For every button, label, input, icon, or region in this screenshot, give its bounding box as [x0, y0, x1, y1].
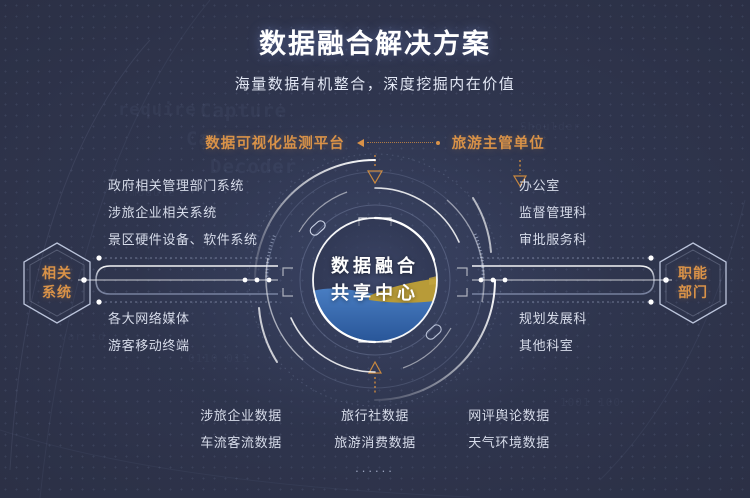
- list-item[interactable]: 审批服务科: [519, 226, 587, 253]
- left-top-system-list: 政府相关管理部门系统 涉旅企业相关系统 景区硬件设备、软件系统: [108, 172, 258, 253]
- list-item[interactable]: 景区硬件设备、软件系统: [108, 226, 258, 253]
- hexagon-right-label: 职能 部门: [678, 264, 708, 302]
- list-item[interactable]: 车流客流数据: [182, 429, 300, 456]
- bottom-ellipsis: ......: [0, 460, 750, 475]
- hexagon-right-line2: 部门: [678, 283, 708, 302]
- list-item[interactable]: 其他科室: [519, 332, 587, 359]
- data-fusion-hub: [243, 148, 507, 412]
- list-item[interactable]: 网评舆论数据: [450, 402, 568, 429]
- arrow-head-icon: [357, 139, 364, 147]
- right-bottom-department-list: 规划发展科 其他科室: [519, 305, 587, 359]
- list-item[interactable]: 各大网络媒体: [108, 305, 190, 332]
- list-item[interactable]: 监督管理科: [519, 199, 587, 226]
- label-tourism-authority[interactable]: 旅游主管单位: [452, 132, 545, 153]
- list-item[interactable]: 涉旅企业相关系统: [108, 199, 258, 226]
- right-top-department-list: 办公室 监督管理科 审批服务科: [519, 172, 587, 253]
- arrow-dot-icon: [436, 141, 440, 145]
- bottom-data-grid: 涉旅企业数据 旅行社数据 网评舆论数据 车流客流数据 旅游消费数据 天气环境数据: [182, 402, 568, 456]
- arrow-dash-line: [367, 142, 433, 143]
- top-label-row: 数据可视化监测平台 旅游主管单位: [0, 132, 750, 153]
- hexagon-left-line1: 相关: [42, 264, 72, 283]
- list-item[interactable]: 办公室: [519, 172, 587, 199]
- bottom-data-sources: 涉旅企业数据 旅行社数据 网评舆论数据 车流客流数据 旅游消费数据 天气环境数据…: [0, 402, 750, 475]
- list-item[interactable]: 旅行社数据: [316, 402, 434, 429]
- hexagon-related-systems[interactable]: 相关 系统: [20, 240, 94, 326]
- infographic-canvas: Capture Category Decoder require module …: [0, 0, 750, 498]
- label-visualization-platform[interactable]: 数据可视化监测平台: [205, 132, 345, 153]
- hexagon-left-label: 相关 系统: [42, 264, 72, 302]
- list-item[interactable]: 涉旅企业数据: [182, 402, 300, 429]
- hexagon-left-line2: 系统: [42, 283, 72, 302]
- page-subtitle: 海量数据有机整合，深度挖掘内在价值: [0, 73, 750, 94]
- page-title: 数据融合解决方案: [0, 22, 750, 61]
- hexagon-functional-departments[interactable]: 职能 部门: [656, 240, 730, 326]
- hexagon-right-line1: 职能: [678, 264, 708, 283]
- list-item[interactable]: 政府相关管理部门系统: [108, 172, 258, 199]
- left-arrow-dotted-icon: [357, 139, 440, 147]
- list-item[interactable]: 规划发展科: [519, 305, 587, 332]
- list-item[interactable]: 游客移动终端: [108, 332, 190, 359]
- list-item[interactable]: 天气环境数据: [450, 429, 568, 456]
- left-bottom-system-list: 各大网络媒体 游客移动终端: [108, 305, 190, 359]
- header: 数据融合解决方案 海量数据有机整合，深度挖掘内在价值: [0, 22, 750, 94]
- list-item[interactable]: 旅游消费数据: [316, 429, 434, 456]
